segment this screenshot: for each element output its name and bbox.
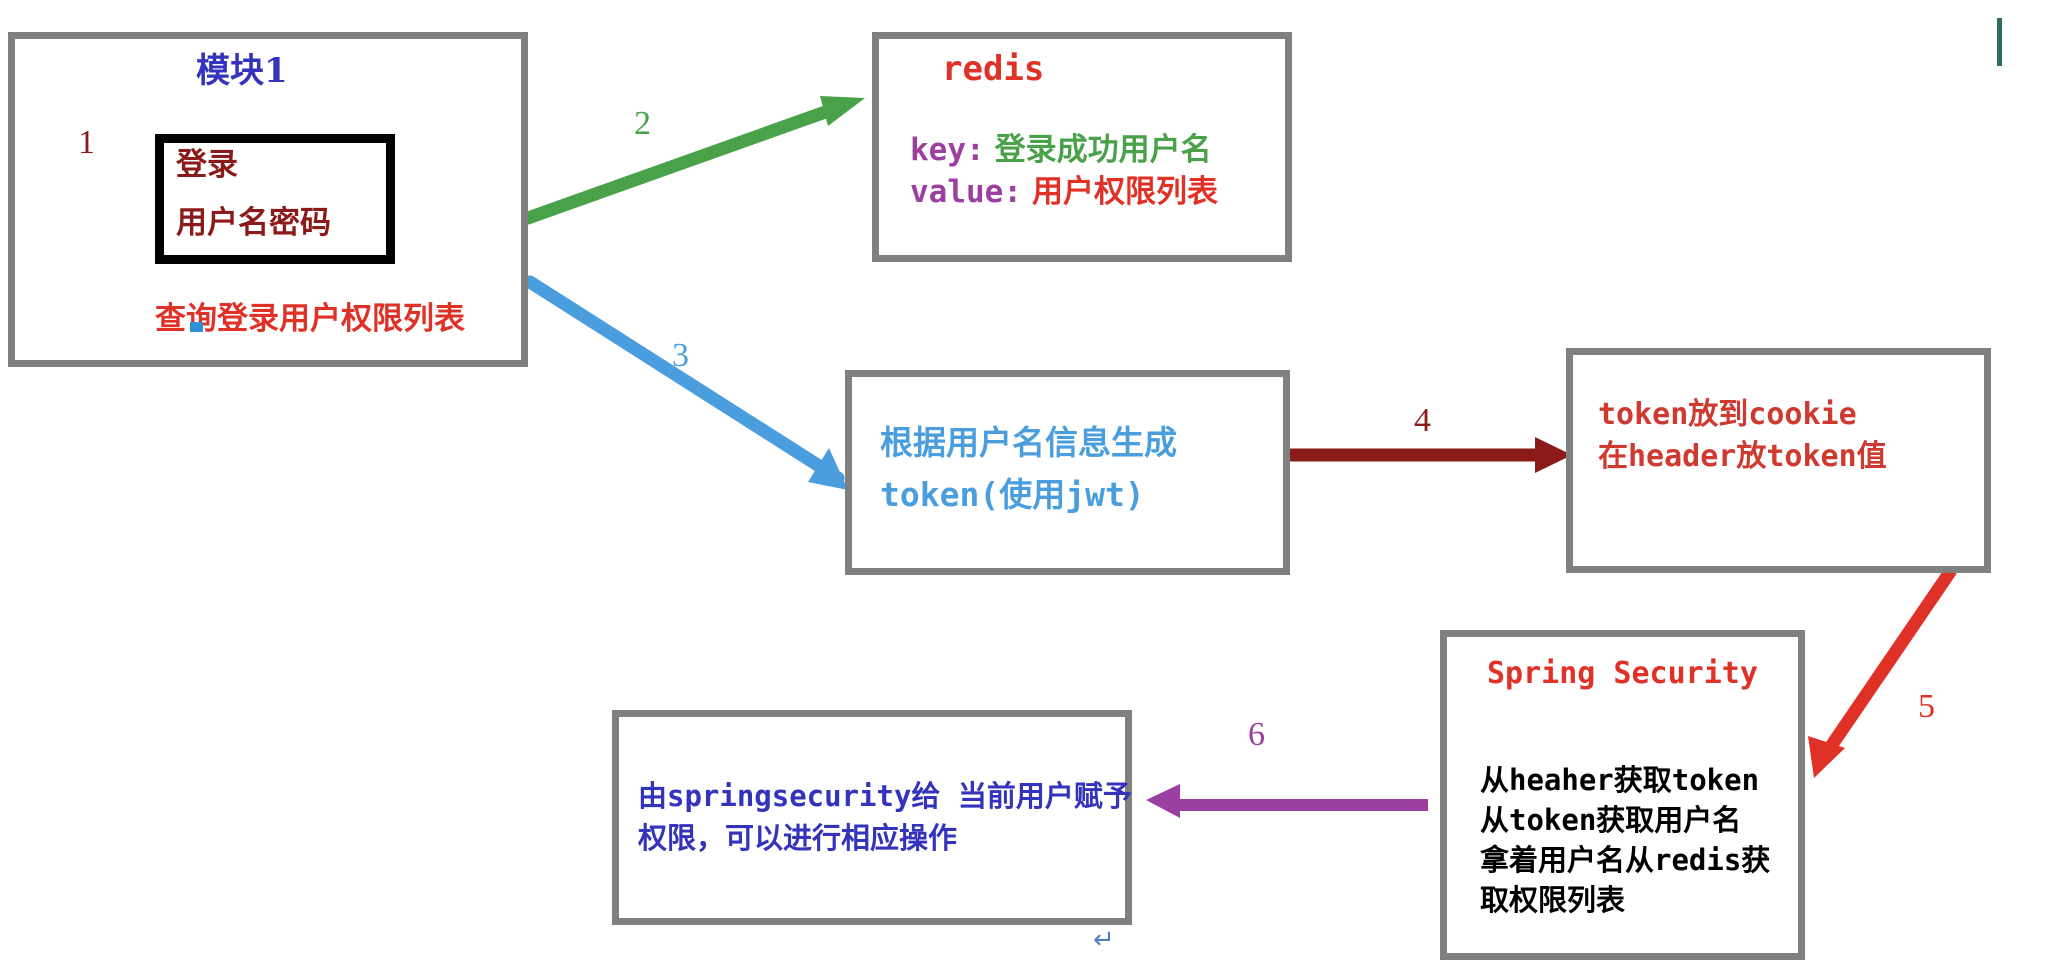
- redis-key-label: key:: [910, 132, 985, 168]
- diagram-canvas: 模块1 登录 用户名密码 查询登录用户权限列表 redis key: 登录成功用…: [0, 0, 2046, 970]
- teal-vertical-mark: [1997, 18, 2002, 66]
- arrow-4-label: 4: [1414, 402, 1431, 440]
- grant-authority-line1: 由springsecurity给 当前用户赋予: [638, 778, 1132, 815]
- redis-title: redis: [942, 48, 1044, 92]
- redis-row-value: value: 用户权限列表: [910, 166, 1218, 211]
- grant-authority-box[interactable]: [612, 710, 1132, 925]
- redis-key-value: 登录成功用户名: [995, 124, 1212, 169]
- spring-security-line3: 拿着用户名从redis获: [1480, 842, 1770, 879]
- text-cursor-mark: [190, 322, 203, 332]
- module1-title: 模块1: [196, 50, 288, 94]
- arrow-2-shape: [528, 96, 865, 218]
- token-cookie-line1: token放到cookie: [1598, 396, 1857, 434]
- redis-row-key: key: 登录成功用户名: [910, 124, 1212, 169]
- grant-authority-line2: 权限，可以进行相应操作: [638, 820, 957, 857]
- arrow-3-shape: [530, 282, 848, 490]
- arrow-4-shape: [1288, 437, 1572, 473]
- arrow-1-label: 1: [78, 124, 95, 162]
- arrow-6-label: 6: [1248, 716, 1265, 754]
- token-gen-line1: 根据用户名信息生成: [880, 422, 1177, 464]
- arrow-6-shape: [1146, 784, 1428, 818]
- redis-value-value: 用户权限列表: [1032, 166, 1218, 211]
- spring-security-line4: 取权限列表: [1480, 882, 1625, 919]
- paragraph-mark-icon: ↵: [1093, 925, 1115, 955]
- arrow-5-label: 5: [1918, 688, 1935, 726]
- token-gen-line2: token(使用jwt): [880, 474, 1145, 516]
- token-gen-box[interactable]: [845, 370, 1290, 575]
- spring-security-line2: 从token获取用户名: [1480, 802, 1741, 839]
- redis-value-label: value:: [910, 174, 1022, 210]
- token-cookie-line2: 在header放token值: [1598, 438, 1887, 476]
- spring-security-title: Spring Security: [1487, 655, 1758, 693]
- arrow-3-label: 3: [672, 337, 689, 375]
- module1-footer-text: 查询登录用户权限列表: [155, 300, 465, 340]
- arrow-2-label: 2: [634, 105, 651, 143]
- login-label-line1: 登录: [176, 146, 238, 186]
- login-label-line2: 用户名密码: [176, 204, 331, 244]
- spring-security-line1: 从heaher获取token: [1480, 762, 1759, 799]
- arrow-5-shape: [1808, 572, 1950, 778]
